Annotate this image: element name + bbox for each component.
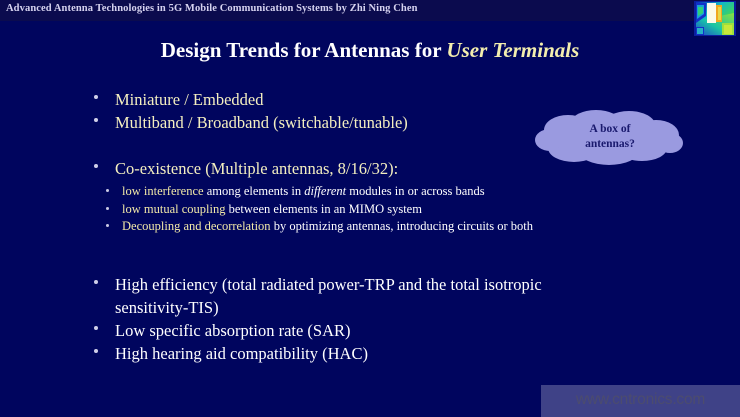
- watermark-band: www.cntronics.com: [541, 385, 740, 417]
- bullet-label: Miniature / Embedded: [115, 90, 263, 109]
- presentation-slide: Advanced Antenna Technologies in 5G Mobi…: [0, 0, 740, 417]
- bullet-high-efficiency: High efficiency (total radiated power-TR…: [92, 273, 542, 319]
- bullet-group-bottom: High efficiency (total radiated power-TR…: [92, 273, 542, 365]
- bullet-dot-icon: [94, 95, 98, 99]
- sub-bullet-low-interference: low interference among elements in diffe…: [92, 183, 533, 201]
- presentation-header-title: Advanced Antenna Technologies in 5G Mobi…: [6, 3, 418, 14]
- thought-cloud-callout: A box of antennas?: [534, 110, 686, 165]
- sub-bullet-highlight: Decoupling and decorrelation: [122, 219, 271, 233]
- watermark-text: www.cntronics.com: [541, 391, 740, 409]
- bullet-low-sar: Low specific absorption rate (SAR): [92, 319, 542, 342]
- sub-bullet-dot-icon: [106, 224, 109, 227]
- sub-bullet-text-tail: modules in or across bands: [346, 184, 485, 198]
- slide-title-accent: User Terminals: [446, 38, 579, 62]
- bullet-dot-icon: [94, 326, 98, 330]
- bullet-dot-icon: [94, 280, 98, 284]
- slide-title: Design Trends for Antennas for User Term…: [0, 38, 740, 63]
- bullet-dot-icon: [94, 349, 98, 353]
- bullet-label: Multiband / Broadband (switchable/tunabl…: [115, 113, 408, 132]
- bullet-miniature-embedded: Miniature / Embedded: [92, 88, 408, 111]
- bullet-label: Co-existence (Multiple antennas, 8/16/32…: [115, 159, 398, 178]
- sub-bullet-decoupling-decorrelation: Decoupling and decorrelation by optimizi…: [92, 218, 533, 236]
- sub-bullet-italic-word: different: [304, 184, 346, 198]
- sub-bullet-dot-icon: [106, 207, 109, 210]
- bullet-label: Low specific absorption rate (SAR): [115, 321, 351, 340]
- sub-bullet-text: between elements in an MIMO system: [225, 202, 421, 216]
- sub-bullet-highlight: low mutual coupling: [122, 202, 225, 216]
- bullet-group-top: Miniature / Embedded Multiband / Broadba…: [92, 88, 408, 134]
- sub-bullet-text: among elements in: [204, 184, 305, 198]
- bullet-dot-icon: [94, 118, 98, 122]
- cloud-shape-icon: [534, 110, 686, 165]
- bullet-label-continuation: sensitivity-TIS): [115, 296, 542, 319]
- bullet-coexistence-heading: Co-existence (Multiple antennas, 8/16/32…: [92, 157, 533, 180]
- bullet-label: High hearing aid compatibility (HAC): [115, 344, 368, 363]
- slide-title-main: Design Trends for Antennas for: [161, 38, 447, 62]
- sub-bullet-low-mutual-coupling: low mutual coupling between elements in …: [92, 201, 533, 219]
- bullet-high-hac: High hearing aid compatibility (HAC): [92, 342, 542, 365]
- sub-bullet-text: by optimizing antennas, introducing circ…: [271, 219, 533, 233]
- sub-bullet-dot-icon: [106, 189, 109, 192]
- bullet-multiband-broadband: Multiband / Broadband (switchable/tunabl…: [92, 111, 408, 134]
- em-field-simulation-thumbnail-icon: [694, 1, 736, 36]
- bullet-label: High efficiency (total radiated power-TR…: [115, 275, 542, 294]
- bullet-dot-icon: [94, 164, 98, 168]
- bullet-group-coexistence: Co-existence (Multiple antennas, 8/16/32…: [92, 157, 533, 236]
- sub-bullet-highlight: low interference: [122, 184, 204, 198]
